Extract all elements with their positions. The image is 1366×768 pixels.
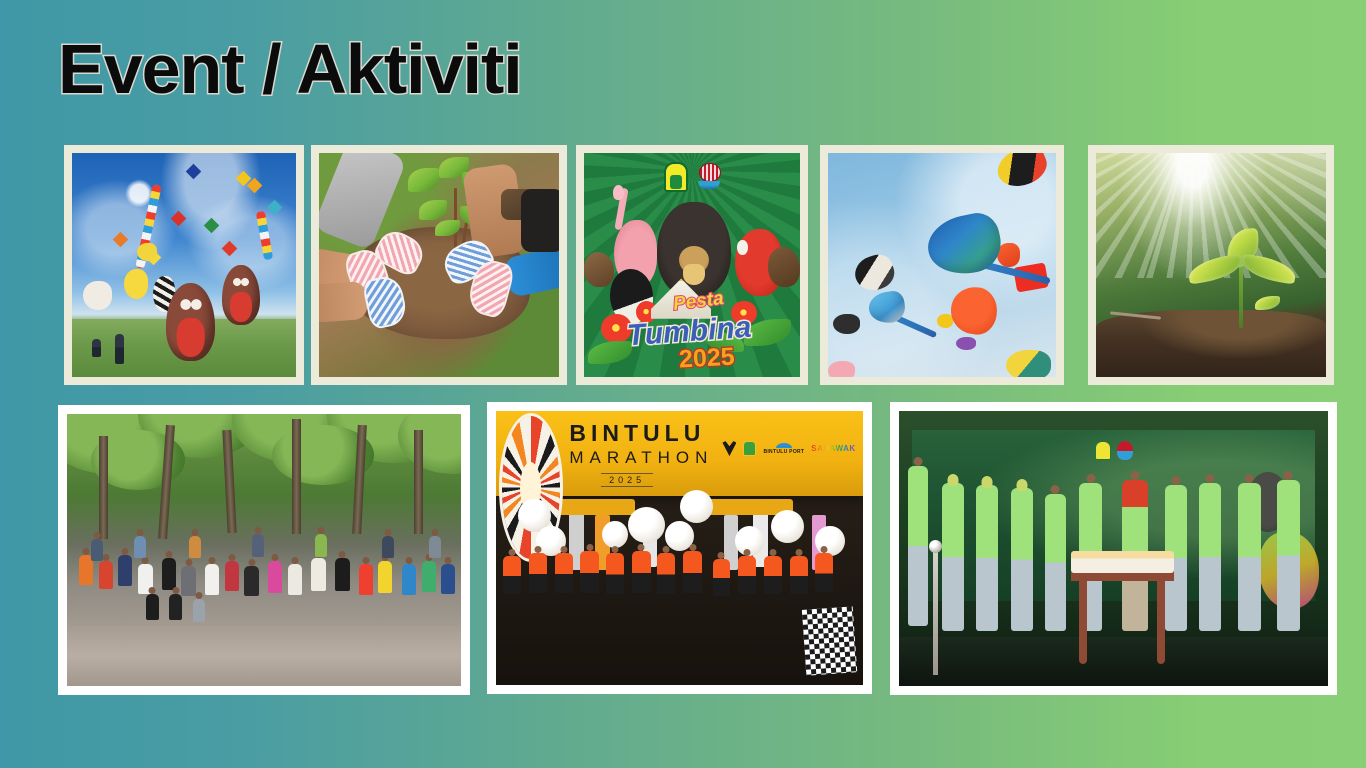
person-silhouette [92,339,101,357]
kite-small [267,200,283,216]
arm-skin-lower-left [319,281,368,323]
sponsor-bintulu-port-label: BINTULU PORT [763,449,804,455]
council-globe-logo-icon [697,162,721,192]
photo-seedling-sunlight [1096,153,1326,377]
marathon-runner [790,556,808,594]
marathon-sponsor-logos: BINTULU PORT SARAWAK [722,441,855,456]
marathon-runner [657,553,675,594]
gallery-item-pesta-tumbina-poster[interactable]: Pesta Tumbina 2025 [576,145,808,385]
kite-small [171,211,187,227]
kite-tail [256,211,273,261]
crowd-person [225,561,239,591]
gallery-item-tree-planting-hands[interactable] [311,145,567,385]
marathon-runner [632,551,651,593]
kite-black-yellow-top [992,153,1052,192]
photo-cake-cutting-ceremony [899,411,1328,686]
council-globe-logo-icon [1117,441,1133,460]
gallery-item-community-group-photo[interactable] [58,405,470,695]
marathon-title-marathon: MARATHON [569,445,713,471]
kite-bear-second [222,265,260,325]
crowd-person-back [252,534,264,557]
ceremony-cake [1071,551,1174,573]
sun-bear-illustration [657,202,730,296]
crowd-person-back [382,536,394,558]
gallery-item-kite-festival-field[interactable] [64,145,304,385]
sapling-leaf [408,168,439,192]
crowd-person-back [134,536,146,558]
kite-yellow-green-bottom [1006,350,1052,377]
crowd-person [359,564,373,595]
paved-ground [67,626,461,686]
rope-stanchion [933,549,938,676]
kite-smiley [137,243,157,261]
crowd-person [118,555,132,586]
marathon-runner [713,559,730,596]
kite-bear-large [166,283,215,361]
crowd-person-front [146,594,159,620]
deer-illustration [768,247,800,287]
balloon [628,507,665,543]
poster-title-pesta: Pesta [672,289,725,314]
kite-yellow-figure [124,269,149,298]
marathon-runner [815,553,833,592]
sarawak-crest-logo-icon [664,162,688,192]
ceremony-official [942,483,964,632]
photo-bintulu-marathon-start: BINTULU MARATHON 2025 BINTULU PORT SARAW… [496,411,863,685]
balloon [771,510,804,543]
kite-purple-small [956,337,977,350]
backdrop-logos [1095,441,1133,460]
sarawak-crest-logo-icon [1095,441,1111,460]
ceremony-official [1277,480,1300,631]
hornbill-icon [722,441,736,456]
crowd-person-front [169,594,182,620]
crowd-person [335,558,350,591]
crowd-person [205,564,219,595]
crowd-person [244,566,259,596]
kite-dark-small [833,314,860,334]
port-swoosh-icon [776,443,792,448]
poster-logos [584,162,800,192]
soil-mound [1096,310,1326,377]
crowd-person-back [315,534,327,557]
marathon-runner [764,556,782,594]
marathon-runner [529,553,547,593]
sponsor-bintulu-port: BINTULU PORT [763,443,804,455]
balloon [602,521,628,548]
photo-community-group-photo [67,414,461,686]
kite-small [204,218,220,234]
crowd-person [441,564,455,594]
crowd-person [402,564,416,595]
kite-pink-bottom [828,361,855,377]
crowd-person [378,561,392,593]
marathon-title-bintulu: BINTULU [569,422,713,445]
crowd-person [99,561,113,589]
photo-tree-planting-hands [319,153,559,377]
sapling-leaf [419,200,447,220]
bintulu-crest-icon [743,441,756,456]
gallery-item-cake-cutting-ceremony[interactable] [890,402,1337,695]
crowd-person [162,558,176,590]
seedling-stem [1239,261,1243,328]
marathon-title-block: BINTULU MARATHON 2025 [569,422,713,489]
marathon-runner [503,556,521,594]
photo-kite-festival-field [72,153,296,377]
balloon [680,490,713,523]
kite-orange-dino [948,284,1000,337]
seedling-sprout-small [1255,296,1280,309]
crowd-person [181,566,196,596]
tree-canopy [398,414,461,474]
crowd-person [311,558,326,591]
gallery-item-sky-kites-seahorse[interactable] [820,145,1064,385]
crowd-person-front [193,599,205,622]
tree-trunk [414,430,423,533]
marathon-title-year: 2025 [601,473,653,487]
tree-trunk [292,419,301,533]
sponsor-sarawak-label: SARAWAK [811,444,855,453]
ceremony-official [908,466,928,626]
kite-white-bear [83,281,112,310]
kite-small [186,164,202,180]
ceremony-official [976,485,998,631]
gallery-item-seedling-sunlight[interactable] [1088,145,1334,385]
kite-small [222,240,238,256]
photo-pesta-tumbina-poster: Pesta Tumbina 2025 [584,153,800,377]
poster-title-year: 2025 [678,344,735,372]
animal-illustration [584,252,614,288]
ceremony-official [1238,483,1261,632]
crowd-person-back [429,536,441,558]
marathon-runner [683,551,702,593]
balloon [815,526,844,556]
crowd-person [422,561,436,592]
kite-cow-black-white [851,251,898,295]
marathon-runner [555,553,573,593]
crowd-person [288,564,302,595]
crowd-person-back [189,536,201,558]
bag-dark [521,189,559,252]
ceremony-official [1011,488,1033,631]
photo-sky-kites-seahorse [828,153,1056,377]
crowd-person-back [91,539,103,561]
checkered-flag [802,607,858,676]
ceremony-table [1071,565,1174,664]
tropical-leaf [588,341,631,363]
tree-trunk [99,436,108,539]
ceremony-official [1045,494,1066,632]
gallery-item-bintulu-marathon-start[interactable]: BINTULU MARATHON 2025 BINTULU PORT SARAW… [487,402,872,694]
page-title: Event / Aktiviti [58,34,522,104]
marathon-runner [580,551,599,593]
marathon-runner [738,556,756,594]
marathon-runner [606,553,624,594]
crowd-person [268,561,282,593]
kite-small [112,231,128,247]
ceremony-official [1199,483,1221,632]
person-silhouette [115,334,124,364]
